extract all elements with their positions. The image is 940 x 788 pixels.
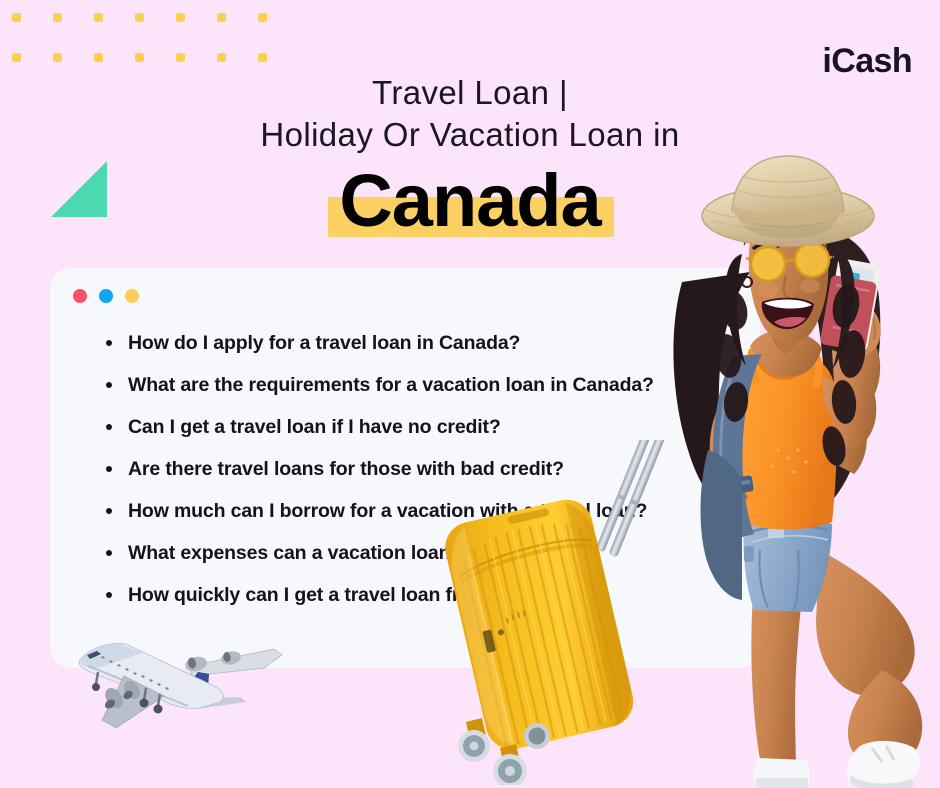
window-dots xyxy=(73,289,139,303)
grid-dot xyxy=(135,13,144,22)
grid-dot xyxy=(94,13,103,22)
grid-dot xyxy=(135,53,144,62)
grid-dot xyxy=(12,53,21,62)
headline-highlight-bar xyxy=(328,197,613,237)
grid-dot xyxy=(258,53,267,62)
dot-grid xyxy=(12,13,282,73)
grid-dot xyxy=(53,53,62,62)
close-dot-icon[interactable] xyxy=(73,289,87,303)
grid-dot xyxy=(176,13,185,22)
grid-dot xyxy=(12,13,21,22)
grid-dot xyxy=(258,13,267,22)
poster-canvas: iCash Travel Loan | Holiday Or Vacation … xyxy=(0,0,940,788)
brand-logo: iCash xyxy=(822,44,912,78)
list-item: Can I get a travel loan if I have no cre… xyxy=(128,412,728,443)
airplane-illustration xyxy=(68,614,298,749)
maximize-dot-icon[interactable] xyxy=(125,289,139,303)
grid-dot xyxy=(176,53,185,62)
list-item: What are the requirements for a vacation… xyxy=(128,370,728,401)
grid-dot xyxy=(217,53,226,62)
suitcase-illustration xyxy=(432,440,672,785)
traveler-illustration xyxy=(646,150,940,788)
grid-dot xyxy=(94,53,103,62)
teal-triangle xyxy=(51,161,107,217)
grid-dot xyxy=(53,13,62,22)
headline-emphasis-wrap: Canada xyxy=(325,162,614,240)
headline-line-1: Travel Loan | xyxy=(0,72,940,114)
grid-dot xyxy=(217,13,226,22)
headline-emphasis: Canada xyxy=(325,162,614,240)
minimize-dot-icon[interactable] xyxy=(99,289,113,303)
list-item: How do I apply for a travel loan in Cana… xyxy=(128,328,728,359)
